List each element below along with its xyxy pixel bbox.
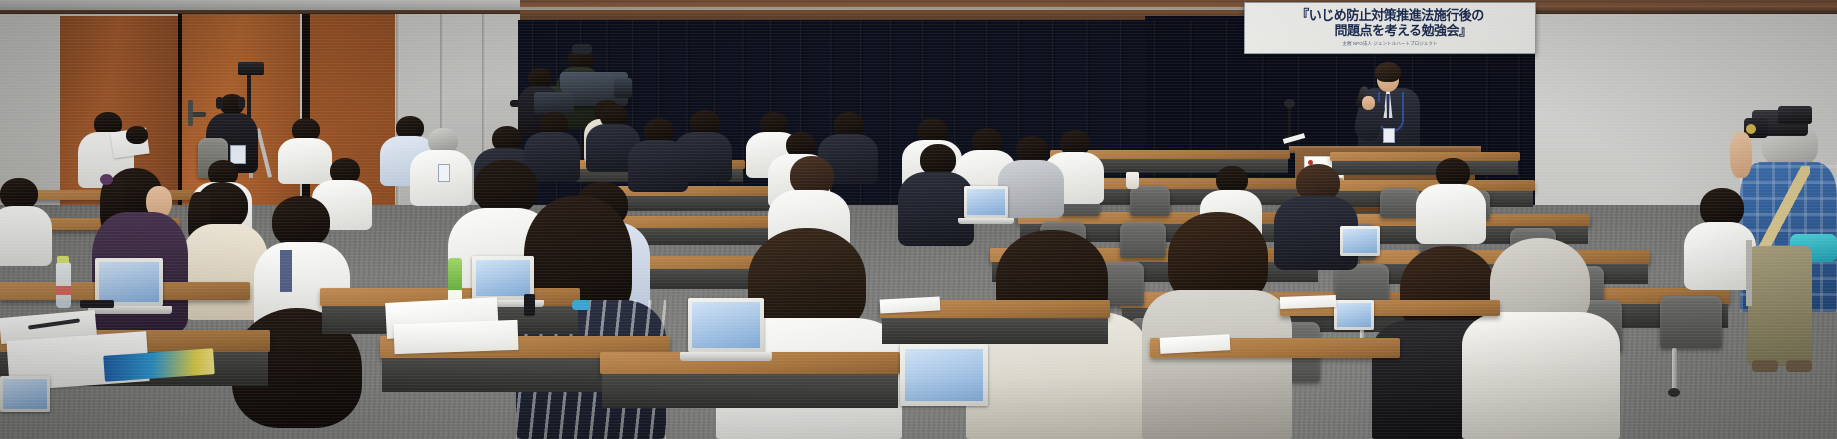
laptop — [688, 298, 764, 352]
papers — [1280, 295, 1336, 309]
papers — [394, 320, 519, 354]
paper-coffee-cup — [1126, 172, 1139, 189]
door-plate — [188, 100, 193, 126]
laptop-base — [680, 352, 772, 361]
laptop — [900, 344, 988, 406]
conference-room-photograph: 『いじめ防止対策推進法施行後の 問題点を考える勉強会』 主催 NPO法人 ジェン… — [0, 0, 1837, 439]
chair — [1130, 186, 1170, 216]
camera-lens-hood — [614, 78, 632, 98]
smartphone — [80, 300, 114, 308]
speaker-hair — [1375, 62, 1401, 82]
lens-ring — [1746, 124, 1756, 134]
attendee-head — [272, 196, 330, 248]
attendee-torso — [1462, 312, 1620, 439]
photographer-arm — [1730, 132, 1752, 178]
monopod — [1746, 240, 1752, 306]
bottle-cap — [57, 256, 69, 263]
chair-leg — [1672, 348, 1677, 392]
chair — [1120, 222, 1166, 258]
crew-head-second — [528, 68, 552, 88]
desk-panel — [1332, 161, 1518, 175]
microphone-icon — [1284, 99, 1295, 108]
khaki-cargo-pants — [1748, 246, 1812, 366]
attendee-torso — [1416, 184, 1486, 244]
laptop — [964, 186, 1008, 218]
blue-object — [572, 300, 590, 310]
attendee-torso — [898, 172, 974, 246]
laptop-base — [958, 218, 1014, 224]
headphones-icon — [216, 97, 223, 109]
laptop — [1340, 226, 1380, 256]
camera-icon — [1778, 106, 1812, 124]
speaker-badge — [1383, 128, 1395, 143]
attendee-torso — [1142, 290, 1292, 439]
hair-tie — [100, 174, 113, 185]
laptop — [1334, 300, 1374, 330]
headphones-icon — [238, 97, 245, 109]
attendee-torso — [674, 132, 732, 182]
microphone-stand — [1288, 104, 1291, 150]
chair-caster — [1668, 388, 1680, 397]
ceiling-left — [0, 0, 520, 10]
camera-body-icon — [534, 92, 574, 114]
chair — [1660, 296, 1722, 348]
press-badge — [230, 145, 246, 164]
speaker-hand — [1362, 96, 1375, 110]
laptop — [95, 258, 163, 306]
banner-line-1: 『いじめ防止対策推進法施行後の — [1296, 8, 1484, 23]
bottle-label — [56, 286, 71, 295]
banner-line-2: 問題点を考える勉強会』 — [1308, 24, 1471, 38]
press-badge — [438, 164, 450, 182]
attendee-head — [126, 126, 148, 144]
desk — [1330, 152, 1520, 161]
camera-viewfinder — [572, 44, 592, 54]
sandal — [1786, 360, 1812, 372]
chair — [1380, 188, 1420, 218]
attendee-torso — [0, 206, 52, 266]
attendee-torso — [278, 138, 332, 184]
desk-panel — [602, 374, 898, 408]
tripod-camera-icon — [238, 62, 264, 75]
desk-panel — [882, 318, 1108, 344]
laptop — [0, 376, 50, 412]
event-banner: 『いじめ防止対策推進法施行後の 問題点を考える勉強会』 主催 NPO法人 ジェン… — [1244, 2, 1536, 54]
banner-subtitle: 主催 NPO法人 ジェントルハートプロジェクト — [1342, 41, 1437, 47]
water-bottle — [56, 262, 71, 308]
lanyard — [280, 250, 292, 292]
sandal — [1752, 360, 1778, 372]
smartphone-upright — [524, 294, 535, 316]
